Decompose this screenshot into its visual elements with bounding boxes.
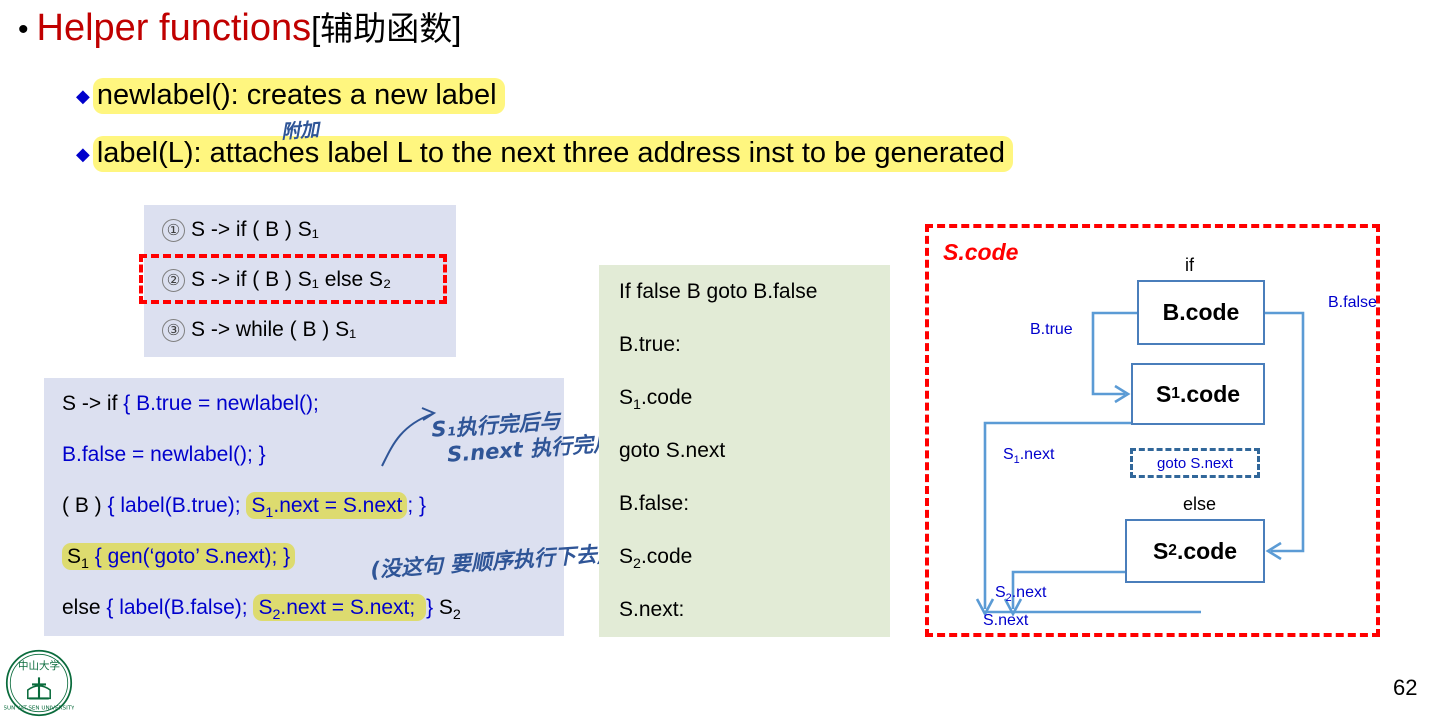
code-line-6: S2.code: [599, 530, 890, 583]
rule-text-3: S -> while ( B ) S₁: [191, 318, 356, 341]
semantic-line-5: else { label(B.false); S2.next = S.next;…: [44, 582, 564, 633]
semantic-highlight-s2next: S2.next = S.next;: [253, 594, 426, 621]
bullet-newlabel: ◆newlabel(): creates a new label: [76, 80, 505, 112]
diagram-goto-box: goto S.next: [1130, 448, 1260, 478]
semantic-line-3: ( B ) { label(B.true); S1.next = S.next;…: [44, 480, 564, 531]
control-flow-diagram: S.code if B.code S1.code goto S.next els…: [925, 224, 1380, 637]
university-logo: 中山大学 SUN YAT-SEN UNIVERSITY: [4, 648, 74, 718]
bullet-newlabel-text: newlabel(): creates a new label: [93, 78, 505, 114]
diamond-bullet-icon: ◆: [76, 86, 90, 106]
diagram-edge-label-s1next: S1.next: [1003, 446, 1054, 466]
code-line-7: S.next:: [599, 583, 890, 636]
semantic-highlight-s1next: S1.next = S.next: [246, 492, 407, 519]
rule-number-1: ①: [162, 219, 185, 242]
semantic-highlight-goto: S1 { gen(‘goto’ S.next); }: [62, 543, 295, 570]
code-line-1: If false B goto B.false: [599, 265, 890, 318]
code-line-2: B.true:: [599, 318, 890, 371]
svg-text:SUN YAT-SEN UNIVERSITY: SUN YAT-SEN UNIVERSITY: [4, 706, 74, 712]
rule-row-3: ③S -> while ( B ) S₁: [144, 305, 456, 355]
diagram-box-bcode: B.code: [1137, 280, 1265, 345]
diagram-label-if: if: [1185, 255, 1194, 276]
diagram-edge-label-btrue: B.true: [1030, 321, 1073, 339]
code-line-4: goto S.next: [599, 424, 890, 477]
title-chinese: [辅助函数]: [311, 10, 461, 47]
diagram-box-s2code: S2.code: [1125, 519, 1265, 583]
page-number: 62: [1393, 675, 1417, 701]
diagram-edge-label-s2next: S2.next: [995, 584, 1046, 604]
diamond-bullet-icon: ◆: [76, 144, 90, 164]
diagram-edge-label-bfalse: B.false: [1328, 294, 1377, 312]
bullet-label: ◆label(L): attaches label L to the next …: [76, 138, 1013, 170]
generated-code-box: If false B goto B.false B.true: S1.code …: [599, 265, 890, 637]
page-title: •Helper functions[辅助函数]: [18, 8, 461, 50]
rule-row-1: ①S -> if ( B ) S₁: [144, 205, 456, 255]
rule-number-3: ③: [162, 319, 185, 342]
title-bullet-icon: •: [18, 13, 29, 46]
diagram-goto-box-label: goto S.next: [1157, 455, 1233, 472]
handwriting-fujia: 附加: [280, 115, 320, 145]
bullet-label-text: label(L): attaches label L to the next t…: [93, 136, 1013, 172]
code-line-3: S1.code: [599, 371, 890, 424]
diagram-edge-label-snext: S.next: [983, 612, 1028, 630]
rule-highlight-outline: [139, 254, 447, 304]
svg-text:中山大学: 中山大学: [18, 659, 60, 672]
diagram-box-s1code: S1.code: [1131, 363, 1265, 425]
diagram-label-else: else: [1183, 494, 1216, 515]
title-english: Helper functions: [37, 7, 312, 49]
rule-text-1: S -> if ( B ) S₁: [191, 218, 319, 241]
code-line-5: B.false:: [599, 477, 890, 530]
